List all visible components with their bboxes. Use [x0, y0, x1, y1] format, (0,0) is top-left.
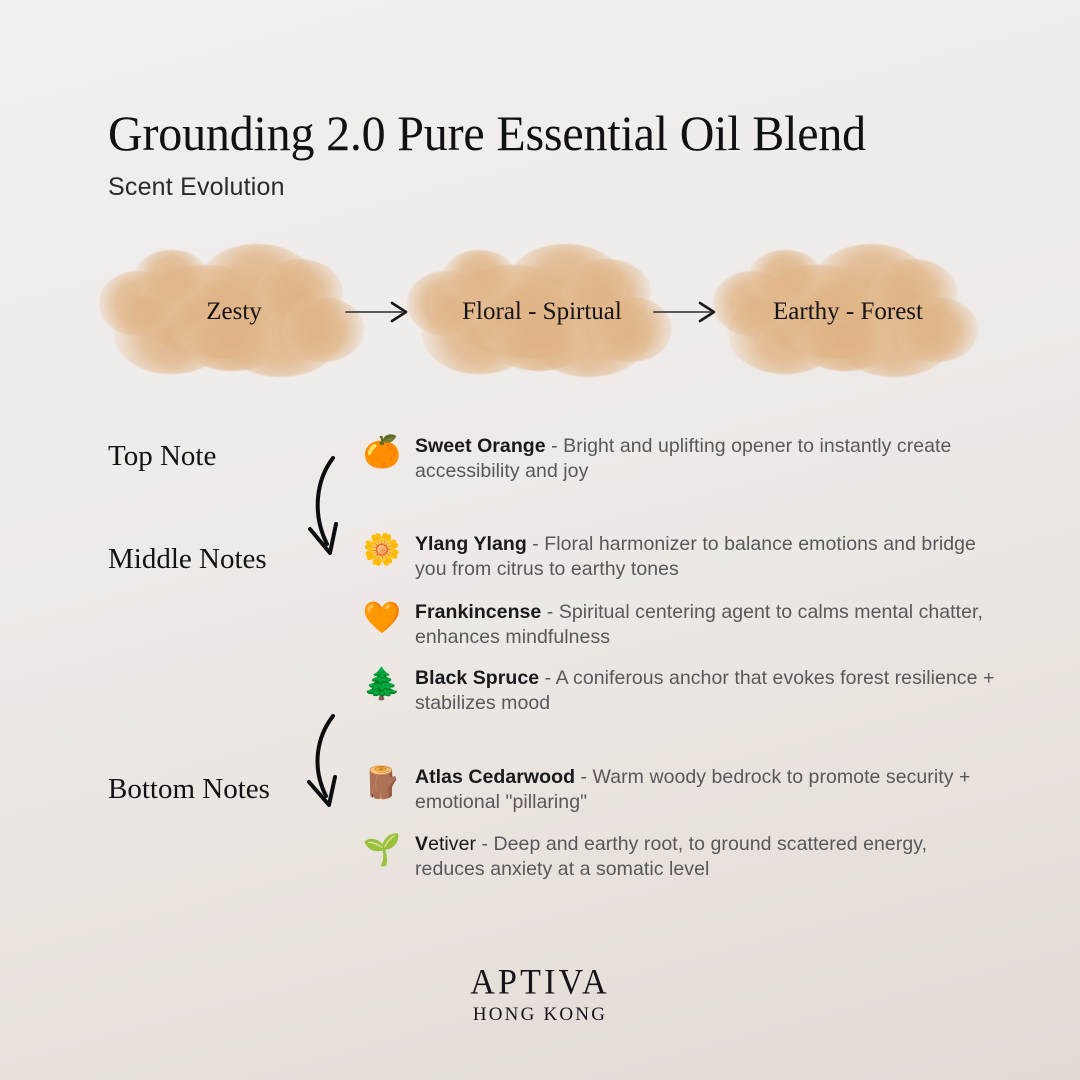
note-group-label-bottom: Bottom Notes	[108, 773, 270, 806]
note-item-name-rest: etiver	[428, 833, 476, 855]
note-item-separator: -	[547, 601, 559, 623]
seedling-icon: 🌱	[362, 832, 402, 868]
wood-log-icon: 🪵	[362, 765, 402, 801]
note-item-name: Atlas Cedarwood	[415, 766, 575, 788]
resin-crystals-icon: 🧡	[362, 600, 402, 636]
evergreen-tree-icon: 🌲	[362, 666, 402, 702]
note-item-name: Sweet Orange	[415, 435, 546, 457]
note-item-separator: -	[575, 766, 592, 788]
note-item-frankincense: 🧡 Frankincense - Spiritual centering age…	[362, 600, 1002, 649]
note-item-separator: -	[476, 833, 493, 855]
note-item-separator: -	[546, 435, 563, 457]
brand-region: HONG KONG	[0, 1004, 1080, 1026]
notes-section: Top Note Middle Notes Bottom Notes 🍊 Swe…	[0, 0, 1080, 1080]
note-item-name: Ylang Ylang	[415, 533, 527, 555]
note-item-name: Black Spruce	[415, 667, 539, 689]
note-item-text: Vetiver - Deep and earthy root, to groun…	[415, 832, 1002, 881]
note-item-sweet-orange: 🍊 Sweet Orange - Bright and uplifting op…	[362, 434, 1002, 483]
note-item-text: Atlas Cedarwood - Warm woody bedrock to …	[415, 765, 1002, 814]
note-group-label-middle: Middle Notes	[108, 543, 267, 576]
note-item-separator: -	[539, 667, 555, 689]
note-item-name: Frankincense	[415, 601, 547, 623]
note-item-atlas-cedarwood: 🪵 Atlas Cedarwood - Warm woody bedrock t…	[362, 765, 1002, 814]
note-group-label-top: Top Note	[108, 440, 216, 473]
ylang-flower-icon: 🌼	[362, 532, 402, 568]
note-item-text: Black Spruce - A coniferous anchor that …	[415, 666, 1002, 715]
note-item-vetiver: 🌱 Vetiver - Deep and earthy root, to gro…	[362, 832, 1002, 881]
note-item-name-initial: V	[415, 833, 428, 855]
footer-logo: APTIVA HONG KONG	[0, 964, 1080, 1026]
note-item-black-spruce: 🌲 Black Spruce - A coniferous anchor tha…	[362, 666, 1002, 715]
infographic-canvas: Grounding 2.0 Pure Essential Oil Blend S…	[0, 0, 1080, 1080]
brand-name: APTIVA	[0, 963, 1080, 1003]
note-item-text: Sweet Orange - Bright and uplifting open…	[415, 434, 1002, 483]
note-item-ylang-ylang: 🌼 Ylang Ylang - Floral harmonizer to bal…	[362, 532, 1002, 581]
note-item-text: Frankincense - Spiritual centering agent…	[415, 600, 1002, 649]
orange-icon: 🍊	[362, 434, 402, 470]
note-item-separator: -	[527, 533, 544, 555]
note-item-text: Ylang Ylang - Floral harmonizer to balan…	[415, 532, 1002, 581]
